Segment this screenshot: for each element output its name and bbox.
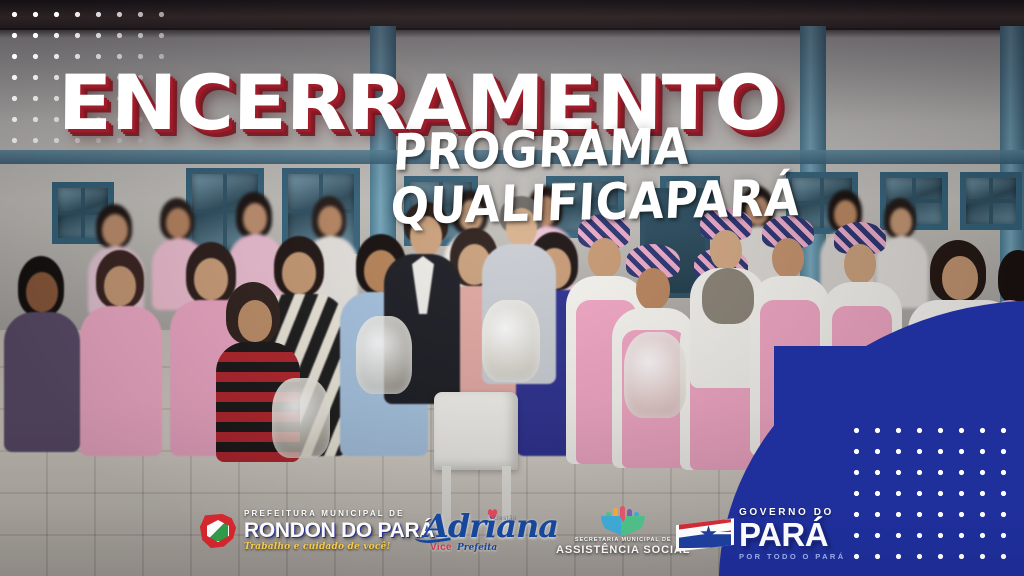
bottom-gradient bbox=[0, 506, 1024, 576]
poster-canvas: PQSP/PA ENCERRAMENTO PROGRAMA QUALIFICAP… bbox=[0, 0, 1024, 576]
page-subtitle: PROGRAMA QUALIFICAPARÁ bbox=[389, 113, 1024, 234]
title-block: ENCERRAMENTO PROGRAMA QUALIFICAPARÁ bbox=[0, 0, 1024, 200]
